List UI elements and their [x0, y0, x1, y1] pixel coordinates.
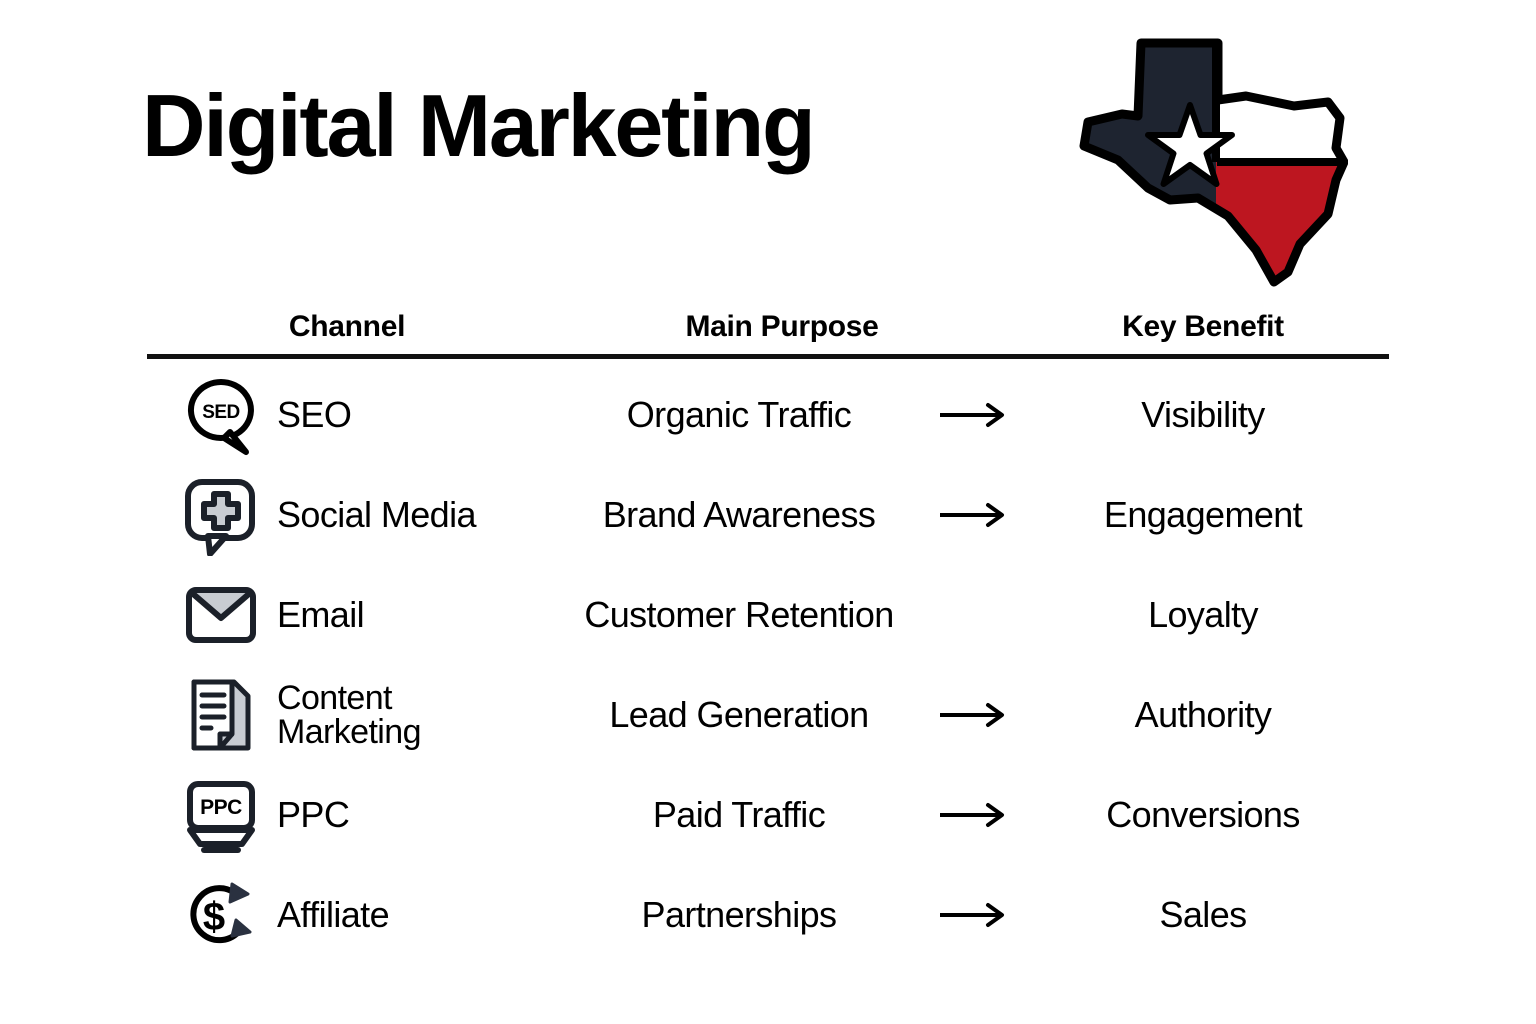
benefit-label: Engagement: [1017, 494, 1389, 536]
cell-main-purpose: Paid Traffic: [547, 794, 1017, 836]
table-row: Email Customer Retention Loyalty: [147, 565, 1389, 665]
channel-label: SEO: [277, 397, 351, 434]
purpose-label: Brand Awareness: [547, 494, 931, 536]
cell-channel: Content Marketing: [147, 673, 547, 757]
arrow-right-icon: [931, 695, 1017, 735]
cell-main-purpose: Brand Awareness: [547, 494, 1017, 536]
purpose-label: Lead Generation: [547, 694, 931, 736]
table-row: PPC PPC Paid Traffic Conversions: [147, 765, 1389, 865]
purpose-label: Partnerships: [547, 894, 931, 936]
table-row: $ Affiliate Partnerships Sales: [147, 865, 1389, 965]
svg-text:$: $: [203, 895, 225, 939]
cell-main-purpose: Lead Generation: [547, 694, 1017, 736]
header-divider: [147, 354, 1389, 359]
column-header-key-benefit: Key Benefit: [1017, 310, 1389, 344]
cell-main-purpose: Organic Traffic: [547, 394, 1017, 436]
table-row: Social Media Brand Awareness Engagement: [147, 465, 1389, 565]
cell-main-purpose: Partnerships: [547, 894, 1017, 936]
cell-channel: SED SEO: [147, 373, 547, 457]
benefit-label: Authority: [1017, 694, 1389, 736]
texas-state-flag-logo: [1078, 38, 1348, 288]
svg-text:SED: SED: [202, 402, 240, 423]
cell-main-purpose: Customer Retention: [547, 594, 1017, 636]
channels-table: Channel Main Purpose Key Benefit SED SEO: [147, 292, 1389, 965]
column-header-main-purpose: Main Purpose: [547, 310, 1017, 344]
cell-channel: PPC PPC: [147, 773, 547, 857]
benefit-label: Loyalty: [1017, 594, 1389, 636]
channel-label: PPC: [277, 797, 349, 834]
purpose-label: Paid Traffic: [547, 794, 931, 836]
seo-speech-bubble-icon: SED: [179, 373, 263, 457]
content-document-icon: [179, 673, 263, 757]
channel-label: Affiliate: [277, 897, 389, 934]
table-header-row: Channel Main Purpose Key Benefit: [147, 292, 1389, 344]
cell-channel: Email: [147, 573, 547, 657]
arrow-right-icon: [931, 895, 1017, 935]
arrow-right-icon: [931, 795, 1017, 835]
arrow-right-icon: [931, 395, 1017, 435]
arrow-right-icon: [931, 595, 1017, 635]
social-media-chat-plus-icon: [179, 473, 263, 557]
email-envelope-icon: [179, 573, 263, 657]
affiliate-dollar-cycle-icon: $: [179, 873, 263, 957]
table-row: Content Marketing Lead Generation Author…: [147, 665, 1389, 765]
benefit-label: Visibility: [1017, 394, 1389, 436]
ppc-monitor-icon: PPC: [179, 773, 263, 857]
svg-text:PPC: PPC: [200, 796, 242, 819]
channel-label: Email: [277, 597, 364, 634]
page-title: Digital Marketing: [142, 82, 814, 170]
channel-label: Content Marketing: [277, 681, 421, 749]
column-header-channel: Channel: [147, 310, 547, 344]
cell-channel: Social Media: [147, 473, 547, 557]
table-row: SED SEO Organic Traffic Visibility: [147, 365, 1389, 465]
table-body: SED SEO Organic Traffic Visibility: [147, 365, 1389, 965]
arrow-right-icon: [931, 495, 1017, 535]
purpose-label: Customer Retention: [547, 594, 931, 636]
benefit-label: Sales: [1017, 894, 1389, 936]
channel-label: Social Media: [277, 497, 476, 534]
cell-channel: $ Affiliate: [147, 873, 547, 957]
purpose-label: Organic Traffic: [547, 394, 931, 436]
infographic-page: Digital Marketing: [0, 0, 1536, 1024]
benefit-label: Conversions: [1017, 794, 1389, 836]
